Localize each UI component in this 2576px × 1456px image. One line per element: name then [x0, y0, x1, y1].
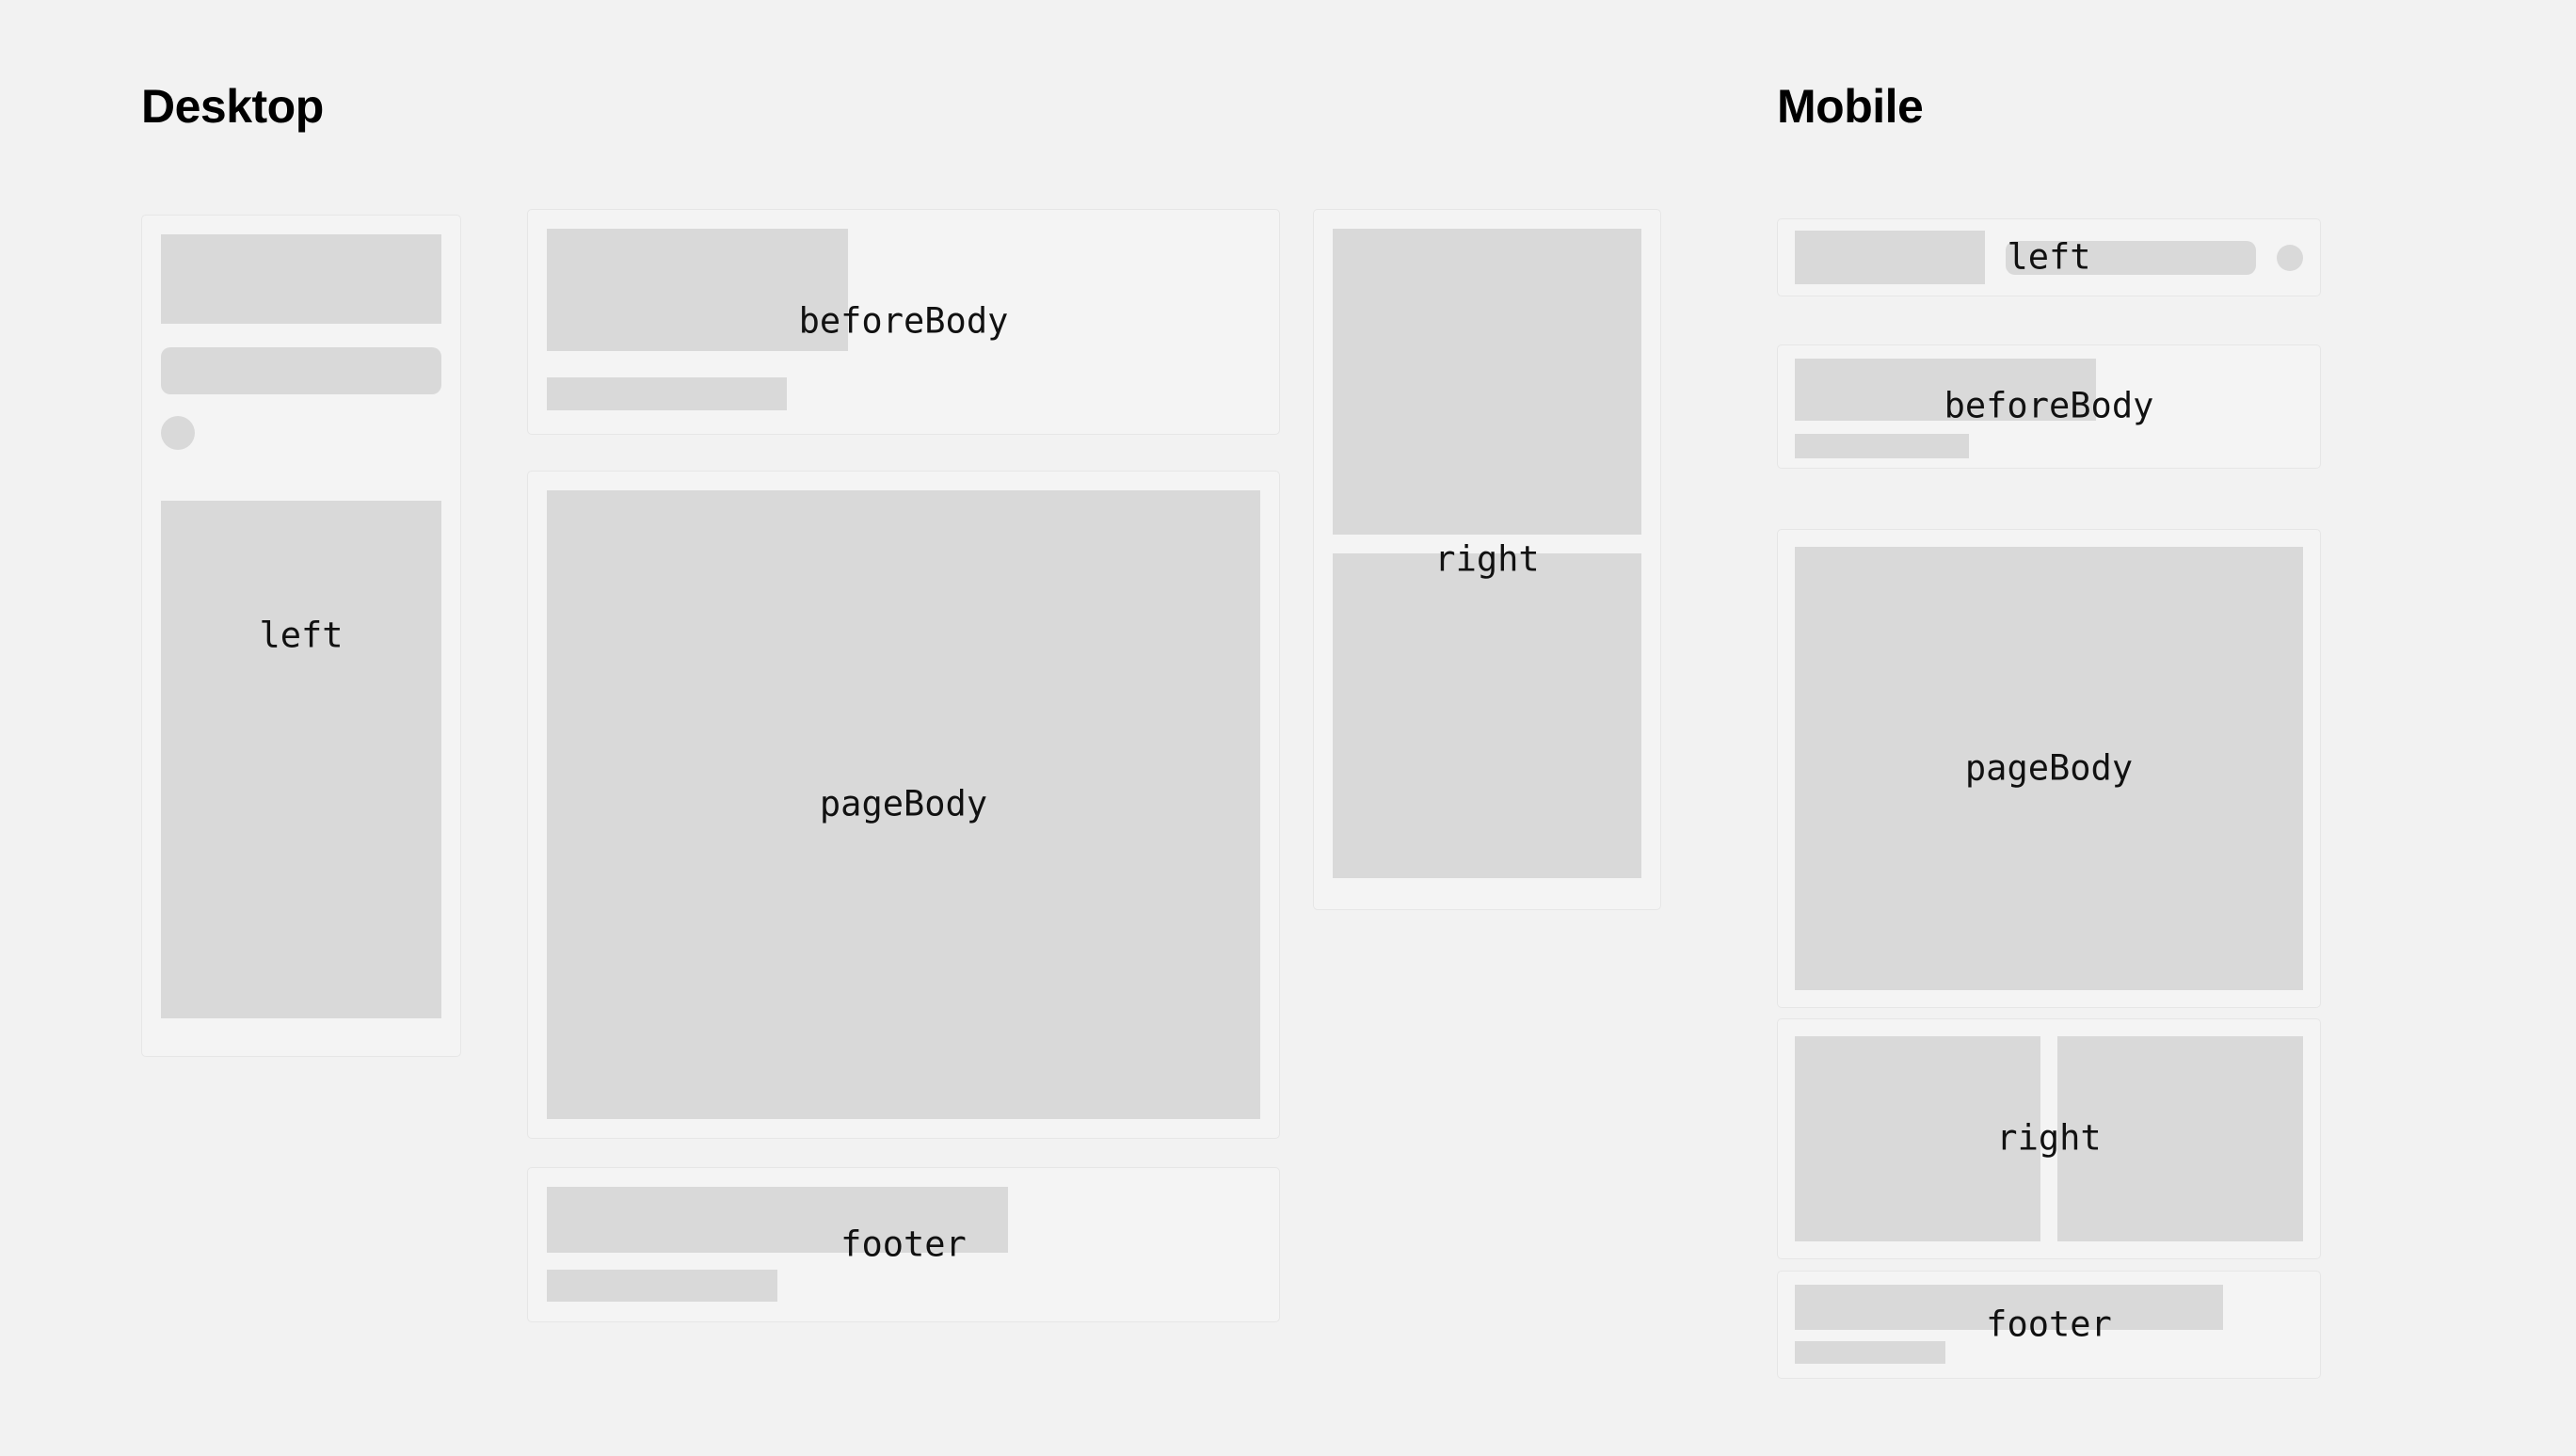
placeholder-block: [1333, 229, 1641, 535]
placeholder-block: [547, 229, 848, 351]
placeholder-bar: [2006, 241, 2256, 275]
desktop-region-beforebody[interactable]: beforeBody: [527, 209, 1280, 435]
desktop-region-footer[interactable]: footer: [527, 1167, 1280, 1322]
placeholder-bar: [1795, 1285, 2223, 1330]
placeholder-block: [1795, 1036, 2040, 1241]
placeholder-bar: [547, 1187, 1008, 1253]
mobile-region-beforebody[interactable]: beforeBody: [1777, 344, 2321, 469]
placeholder-block: [1795, 231, 1985, 284]
mobile-region-left[interactable]: left: [1777, 218, 2321, 296]
placeholder-block: [547, 490, 1260, 1119]
placeholder-block: [2057, 1036, 2303, 1241]
mobile-region-right[interactable]: right: [1777, 1018, 2321, 1259]
wireframe-canvas: Desktop left beforeBody pageBody footer …: [0, 0, 2576, 1456]
desktop-region-pagebody[interactable]: pageBody: [527, 471, 1280, 1139]
placeholder-bar: [1795, 434, 1969, 458]
placeholder-block: [1795, 359, 2096, 421]
placeholder-bar: [161, 347, 441, 394]
placeholder-block: [1333, 553, 1641, 878]
placeholder-avatar-circle: [161, 416, 195, 450]
placeholder-bar: [547, 377, 787, 410]
desktop-region-left[interactable]: left: [141, 215, 461, 1057]
placeholder-block: [161, 234, 441, 324]
placeholder-bar: [1795, 1341, 1945, 1364]
placeholder-block: [161, 501, 441, 1018]
desktop-region-right[interactable]: right: [1313, 209, 1661, 910]
placeholder-block: [1795, 547, 2303, 990]
mobile-heading: Mobile: [1777, 83, 1923, 130]
placeholder-bar: [547, 1270, 777, 1302]
mobile-region-pagebody[interactable]: pageBody: [1777, 529, 2321, 1008]
mobile-region-footer[interactable]: footer: [1777, 1271, 2321, 1379]
desktop-heading: Desktop: [141, 83, 324, 130]
placeholder-avatar-circle: [2277, 245, 2303, 271]
